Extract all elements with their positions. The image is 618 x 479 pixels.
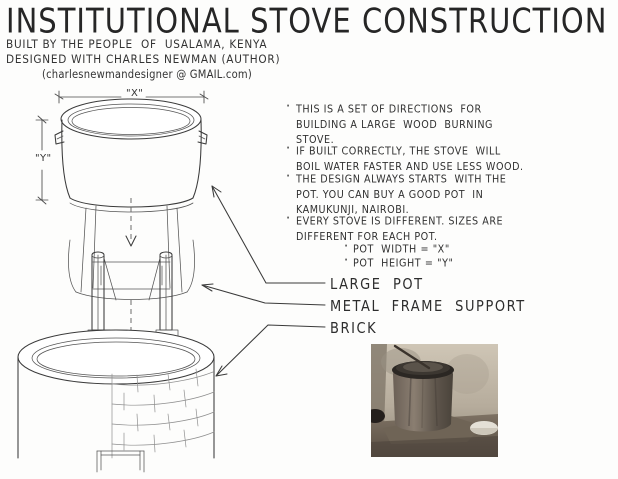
large-pot-shape [55,99,207,212]
note-bullet: THIS IS A SET OF DIRECTIONS FOR BUILDING… [286,102,616,148]
callout-label-metal-frame-support: METAL FRAME SUPPORT [330,298,526,316]
note-bullet: IF BUILT CORRECTLY, THE STOVE WILL BOIL … [286,144,616,175]
firebox-opening [97,451,144,472]
page-title: INSTITUTIONAL STOVE CONSTRUCTION [6,2,607,40]
note-sub-bullet-pot-height: POT HEIGHT = "Y" [344,256,616,271]
center-axis-dashed [126,198,136,370]
note-bullet: EVERY STOVE IS DIFFERENT. SIZES ARE DIFF… [286,214,616,245]
dimension-x-label: "X" [126,88,143,99]
leader-brick [216,325,325,376]
leader-metal-frame-support [202,284,325,305]
instruction-notes-block: THIS IS A SET OF DIRECTIONS FOR BUILDING… [286,102,616,269]
callout-label-brick: BRICK [330,320,377,338]
credit-line-email: (charlesnewmandesigner @ GMAIL.com) [42,69,252,82]
credit-line-built-by: BUILT BY THE PEOPLE OF USALAMA, KENYA [6,38,267,51]
brick-base-shape [18,330,214,472]
note-bullet: THE DESIGN ALWAYS STARTS WITH THE POT. Y… [286,172,616,218]
callout-label-large-pot: LARGE POT [330,276,424,294]
stove-construction-drawing: INSTITUTIONAL STOVE CONSTRUCTION BUILT B… [0,0,618,479]
credit-line-designed-with: DESIGNED WITH CHARLES NEWMAN (AUTHOR) [6,53,280,66]
stove-photo-inset [371,344,498,457]
brick-texture-lines [112,369,214,458]
dimension-y-label: "Y" [35,153,52,164]
metal-frame-support-shape [68,206,194,337]
